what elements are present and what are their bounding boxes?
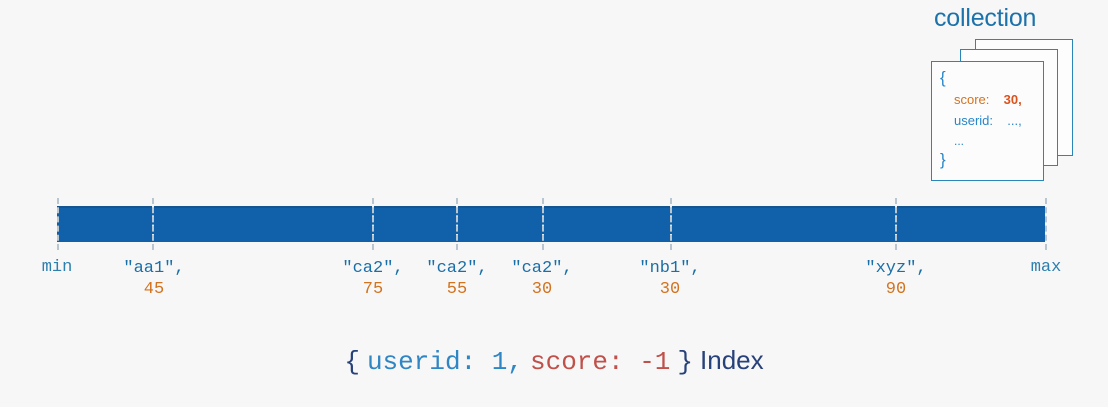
index-caption: {userid: 1,score: -1}Index: [0, 345, 1108, 377]
index-entry-value: 45: [123, 279, 184, 302]
index-entry-label: "ca2", 75: [342, 258, 403, 302]
document-field-ellipsis: ...: [954, 133, 964, 150]
caption-close-brace: }: [677, 347, 693, 377]
index-entry-key: "ca2",: [511, 258, 572, 279]
index-entry-key: "ca2",: [342, 258, 403, 279]
document-field-score: score: 30,: [954, 91, 1022, 110]
tick-label-min: min: [42, 258, 73, 277]
index-entry-key: "aa1",: [123, 258, 184, 279]
index-entry-label: "aa1", 45: [123, 258, 184, 302]
tick-nb1: [670, 198, 672, 250]
document-field-userid-value: ...,: [1007, 113, 1021, 128]
tick-ca2-55: [456, 198, 458, 250]
tick-label-min-text: min: [42, 258, 73, 277]
index-entry-value: 30: [639, 279, 700, 302]
tick-xyz: [895, 198, 897, 250]
document-card-front: { score: 30, userid: ..., ... }: [931, 61, 1044, 181]
caption-userid-spec: userid: 1,: [367, 347, 523, 377]
index-entry-value: 75: [342, 279, 403, 302]
caption-open-brace: {: [344, 347, 360, 377]
document-field-score-key: score:: [954, 92, 989, 107]
tick-label-max-text: max: [1031, 258, 1062, 277]
tick-min: [57, 198, 59, 250]
collection-group: collection { score: 30, userid: ..., ...…: [915, 4, 1095, 189]
document-field-userid-key: userid:: [954, 113, 993, 128]
tick-ca2-75: [372, 198, 374, 250]
index-entry-value: 55: [426, 279, 487, 302]
collection-title: collection: [934, 4, 1036, 33]
diagram-canvas: collection { score: 30, userid: ..., ...…: [0, 0, 1108, 407]
index-entry-label: "nb1", 30: [639, 258, 700, 302]
document-field-userid: userid: ...,: [954, 112, 1022, 131]
index-entry-value: 30: [511, 279, 572, 302]
tick-aa1: [152, 198, 154, 250]
document-field-score-value: 30,: [1004, 92, 1022, 107]
index-entry-label: "ca2", 30: [511, 258, 572, 302]
index-entry-key: "xyz",: [865, 258, 926, 279]
document-open-brace: {: [940, 66, 946, 91]
tick-ca2-30: [542, 198, 544, 250]
index-entry-label: "xyz", 90: [865, 258, 926, 302]
index-entry-key: "nb1",: [639, 258, 700, 279]
caption-score-spec: score: -1: [530, 347, 670, 377]
caption-index-word: Index: [700, 345, 764, 375]
index-entry-key: "ca2",: [426, 258, 487, 279]
index-entry-value: 90: [865, 279, 926, 302]
tick-label-max: max: [1031, 258, 1062, 277]
index-entry-label: "ca2", 55: [426, 258, 487, 302]
document-close-brace: }: [940, 148, 946, 173]
tick-max: [1045, 198, 1047, 250]
document-body: { score: 30, userid: ..., ... }: [932, 62, 1043, 180]
